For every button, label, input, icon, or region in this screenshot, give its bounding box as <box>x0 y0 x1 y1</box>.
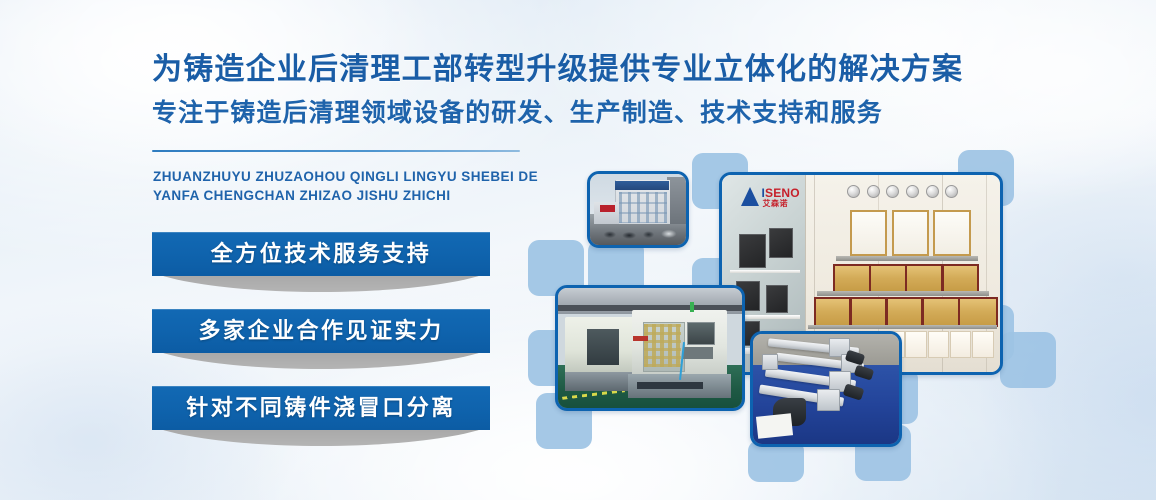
aiseno-logo: ISENO 艾森诺 <box>741 187 803 209</box>
logo-chinese-name: 艾森诺 <box>762 199 788 208</box>
factory-building-photo[interactable] <box>587 171 689 248</box>
photo-collage: ISENO 艾森诺 <box>0 0 1156 500</box>
cnc-machines-image <box>558 288 742 408</box>
logo-letters-seno: SENO <box>765 186 800 200</box>
logo-wordmark: ISENO <box>761 187 799 199</box>
deco-square <box>1000 332 1056 388</box>
tooling-parts-image <box>753 334 899 444</box>
logo-a-mark-icon <box>741 187 759 206</box>
promo-banner: 为铸造企业后清理工部转型升级提供专业立体化的解决方案 专注于铸造后清理领域设备的… <box>0 0 1156 500</box>
factory-building-image <box>590 174 686 245</box>
tooling-parts-photo[interactable] <box>750 331 902 447</box>
cnc-machines-photo[interactable] <box>555 285 745 411</box>
medal-row <box>847 185 958 199</box>
